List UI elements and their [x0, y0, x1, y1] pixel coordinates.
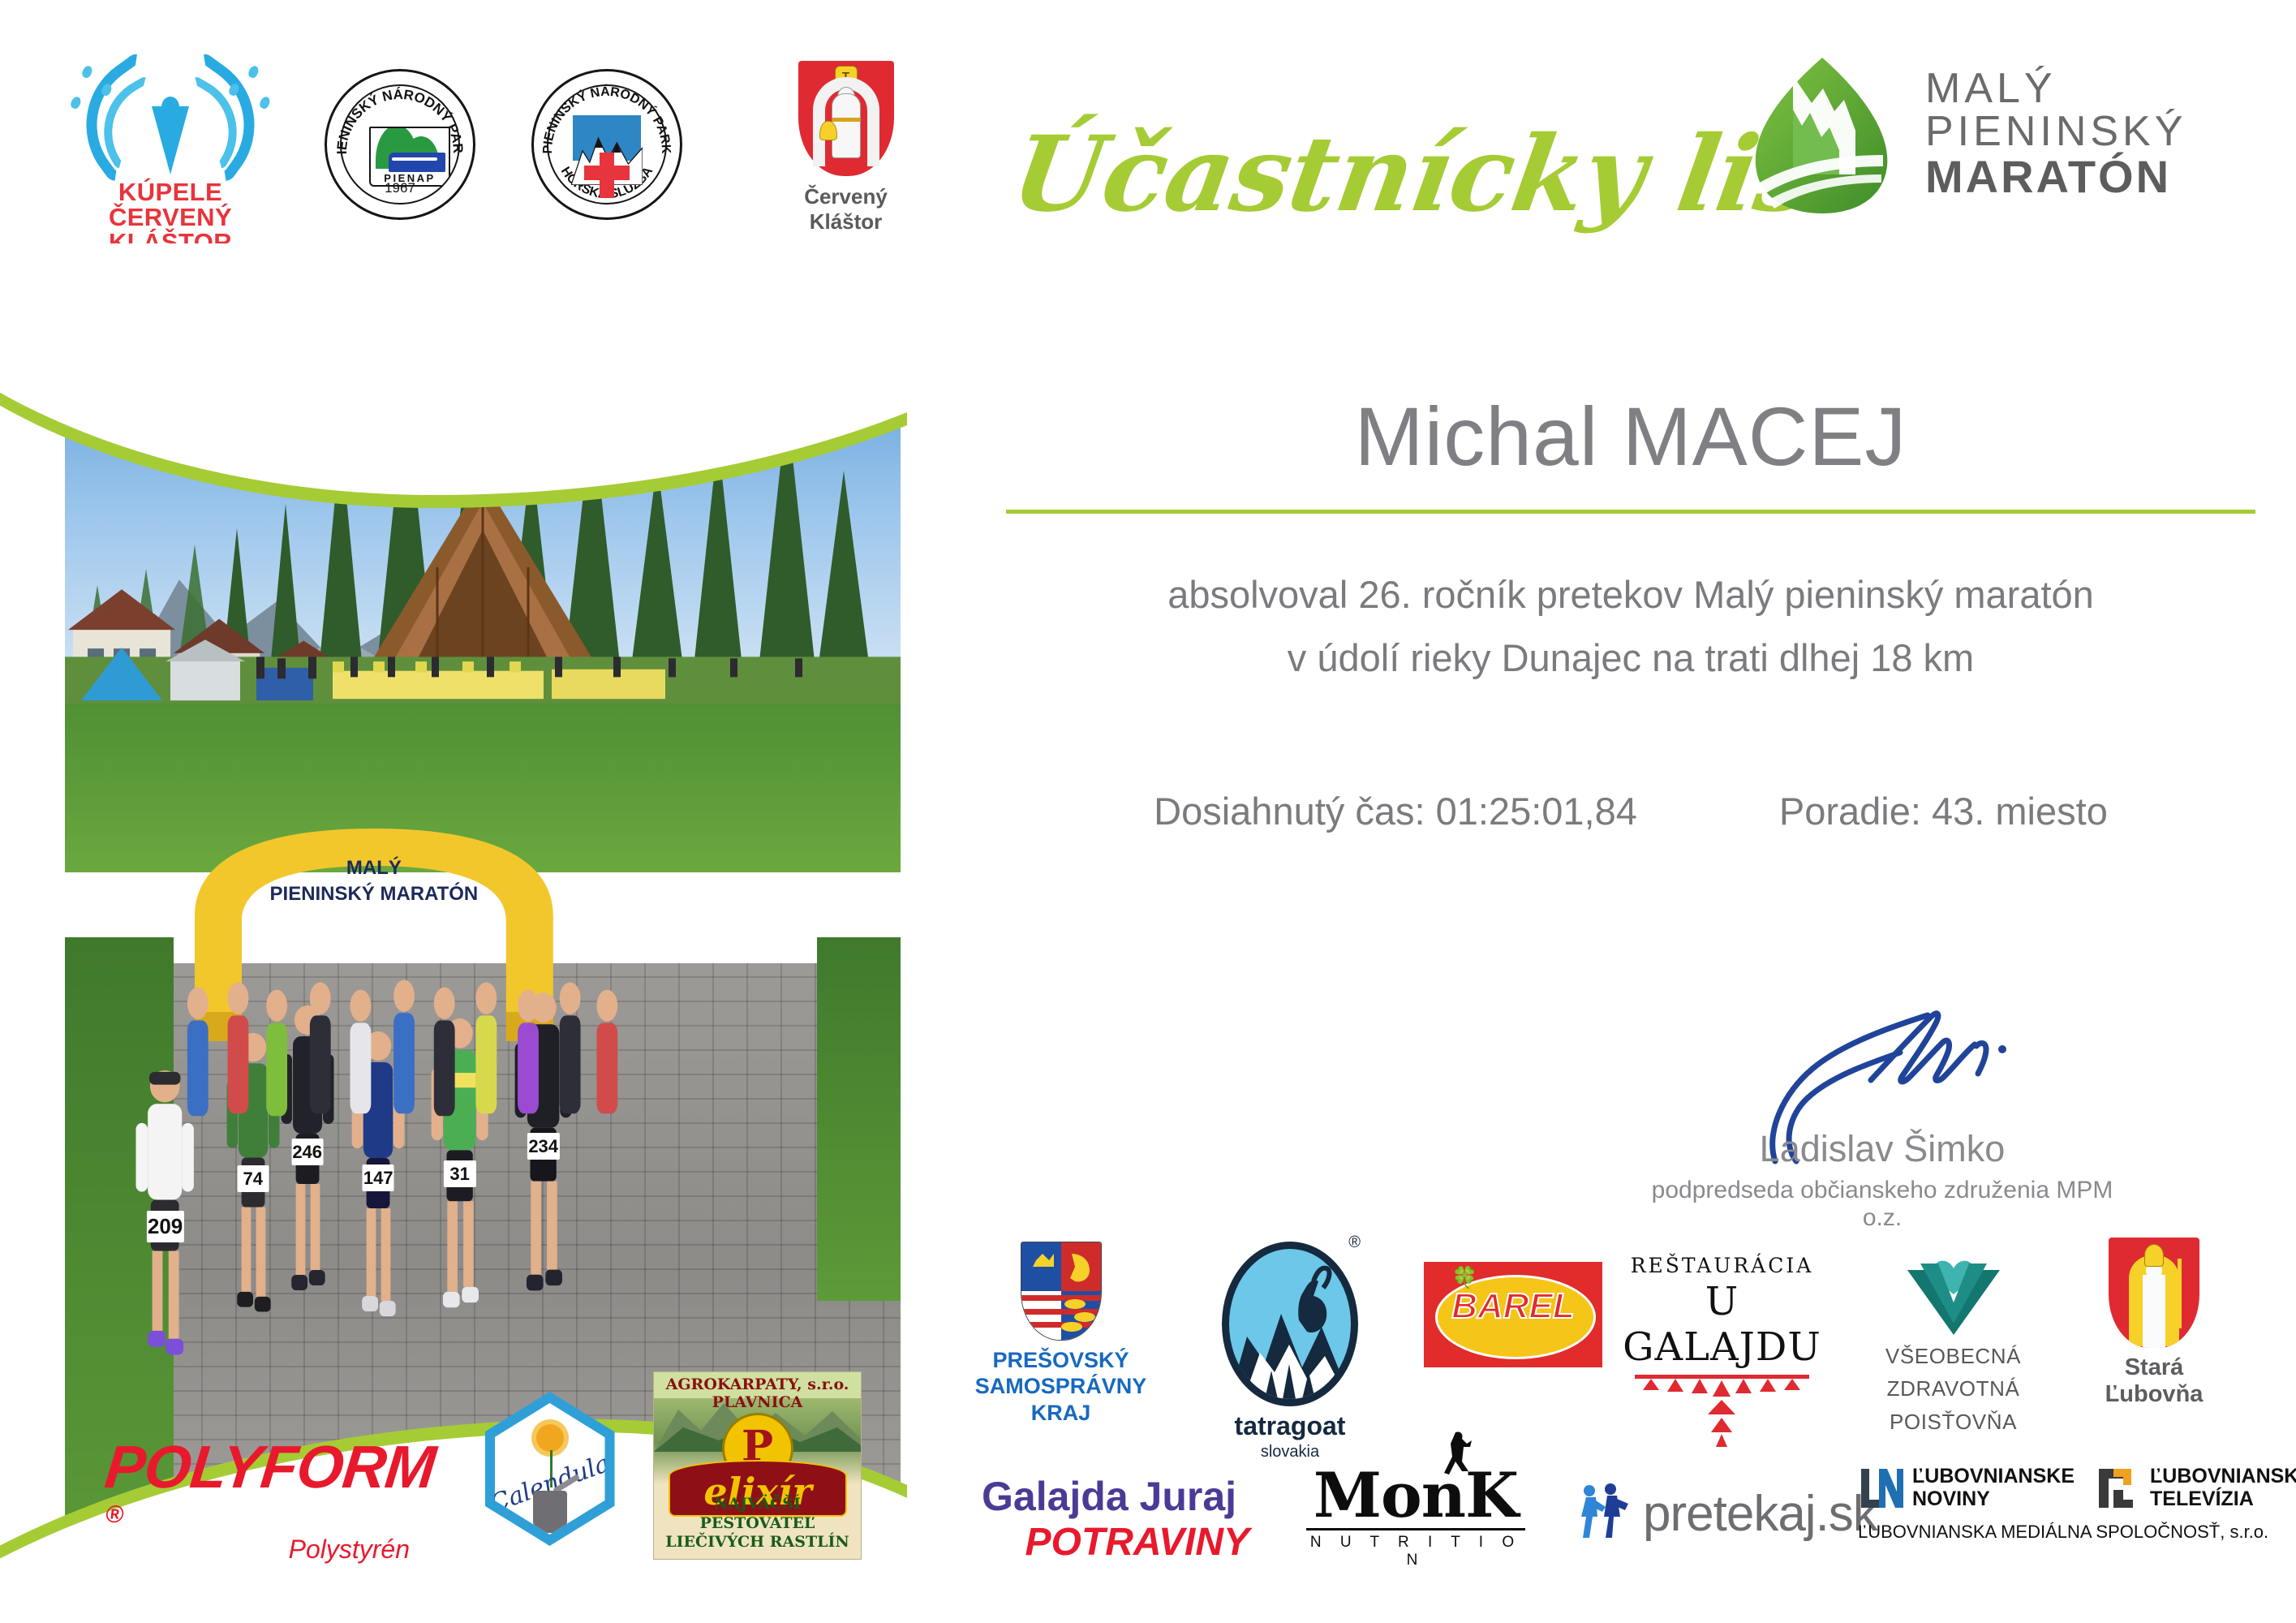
logo-presovsky-samospravny-kraj: PREŠOVSKÝ SAMOSPRÁVNY KRAJ [974, 1242, 1148, 1426]
coat-of-arms-icon [1021, 1242, 1102, 1341]
runner-bib: 209 [147, 1211, 184, 1242]
flower-icon [536, 1424, 564, 1452]
media-line-1: ĽUBOVNIANSKE [1912, 1465, 2075, 1487]
bell-icon [819, 121, 837, 140]
monk-figure-icon [1443, 1429, 1475, 1479]
logo-caption: Červený Kláštor [775, 184, 917, 235]
logo-calendula: Calendula [479, 1392, 621, 1554]
signatory-name: Ladislav Šimko [1655, 1128, 2109, 1170]
logo-kupele-cerveny-klastor: KÚPELE ČERVENÝ KLÁŠTOR Smerdžonka [65, 61, 276, 231]
sponsor-caption: tatragoat [1193, 1411, 1387, 1441]
clover-icon: 🍀 [1451, 1267, 1473, 1288]
signatory-role: podpredseda občianskeho združenia MPM o.… [1639, 1177, 2126, 1232]
barel-word: BAREL [1424, 1286, 1602, 1327]
logo-pretekaj-sk: pretekaj.sk [1578, 1481, 1854, 1546]
galajda-line-2: POTRAVINY [982, 1520, 1249, 1565]
coat-of-arms-icon: T [798, 61, 894, 176]
goat-mountain-icon [1222, 1242, 1358, 1406]
logo-lubovnianska-medialna-spolocnost: ĽUBOVNIANSKE NOVINY ĽUBOVNIANSKA TELEVÍZ… [1858, 1465, 2264, 1543]
logo-maly-pieninsky-maraton: MALÝ PIENINSKÝ MARATÓN [1748, 49, 2251, 219]
divider [1006, 510, 2255, 514]
folk-ornament-icon [1635, 1379, 1809, 1449]
logo-monk-nutrition: MonK N U T R I T I O N [1298, 1465, 1533, 1569]
logo-polyform: POLYFORM® Polystyrén [105, 1432, 446, 1565]
page-title: Účastnícky list [1004, 114, 1871, 235]
svg-text:MALÝ: MALÝ [346, 856, 402, 879]
photo-frame-right-mask [907, 243, 965, 1623]
logo-tatragoat: ® tatragoat slovakia [1193, 1242, 1387, 1462]
sponsor-caption: Stará Ľubovňa [2073, 1354, 2235, 1408]
sponsor-caption: PREŠOVSKÝ SAMOSPRÁVNY KRAJ [974, 1347, 1148, 1426]
runners-icon [1578, 1481, 1632, 1546]
registered-icon: ® [104, 1501, 124, 1529]
logo-stara-lubovna: Stará Ľubovňa [2073, 1238, 2235, 1408]
brand-line-1: MALÝ [1925, 67, 2186, 110]
sponsor-caption: VŠEOBECNÁ ZDRAVOTNÁ POISŤOVŇA [1874, 1340, 2032, 1438]
certificate-page: KÚPELE ČERVENÝ KLÁŠTOR Smerdžonka PIENIN… [0, 0, 2296, 1623]
media-line-4: TELEVÍZIA [2150, 1487, 2296, 1510]
lubovnianske-noviny-logo: ĽUBOVNIANSKE NOVINY [1858, 1465, 2075, 1510]
lt-monogram-icon [2096, 1466, 2143, 1509]
coat-of-arms-icon [2109, 1238, 2199, 1348]
elixir-bottom-line-1: NAJVÄČŠÍ PESTOVATEĽ [654, 1495, 861, 1534]
monk-subtitle: N U T R I T I O N [1298, 1534, 1533, 1569]
signature-block: Ladislav Šimko podpredseda občianskeho z… [1655, 1002, 2109, 1197]
elixir-bottom-line-2: LIEČIVÝCH RASTLÍN [654, 1533, 861, 1552]
restaurant-label: REŠTAURÁCIA [1619, 1254, 1825, 1277]
polyform-word: POLYFORM [102, 1432, 439, 1501]
spa-fountain-icon [65, 61, 276, 174]
registered-icon: ® [1348, 1233, 1361, 1252]
rank-position: Poradie: 43. miesto [1779, 789, 2108, 833]
certificate-body-line-1: absolvoval 26. ročník pretekov Malý pien… [1006, 572, 2255, 617]
logo-agrokarpaty-elixir: AGROKARPATY, s.r.o. PLAVNICA P elixír NA… [653, 1371, 862, 1560]
finish-time: Dosiahnutý čas: 01:25:01,84 [1154, 789, 1637, 833]
runner-pack [174, 976, 625, 1197]
polyform-subtitle: Polystyrén [105, 1535, 410, 1565]
monk-word: MonK [1298, 1465, 1533, 1526]
logo-restauracia-u-galajdu: REŠTAURÁCIA U GALAJDU [1619, 1254, 1825, 1449]
pienap-emblem-icon: PIENAP [369, 127, 450, 187]
crowd-and-tents [65, 626, 901, 704]
vzp-chevron-icon [1901, 1246, 2006, 1335]
logo-horska-sluzba: PIENINSKÝ NÁRODNÝ PARK HORSKÁ SLUŽBA [531, 69, 682, 220]
pretekaj-word: pretekaj.sk [1643, 1485, 1877, 1543]
partner-logo-strip: KÚPELE ČERVENÝ KLÁŠTOR Smerdžonka PIENIN… [0, 0, 957, 243]
brand-line-2: PIENINSKÝ [1925, 110, 2186, 153]
logo-galajda-juraj-potraviny: Galajda Juraj POTRAVINY [982, 1473, 1249, 1565]
galajda-line-1: Galajda Juraj [982, 1473, 1249, 1520]
ln-monogram-icon [1858, 1466, 1905, 1509]
logo-barel: 🍀 BAREL [1412, 1262, 1615, 1367]
logo-cerveny-klastor: T Červený Kláštor [775, 61, 917, 231]
logo-vseobecna-zdravotna-poistovna: VŠEOBECNÁ ZDRAVOTNÁ POISŤOVŇA [1874, 1246, 2032, 1438]
lubovnianska-televizia-logo: ĽUBOVNIANSKA TELEVÍZIA [2096, 1465, 2296, 1510]
media-company-footer: ĽUBOVNIANSKA MEDIÁLNA SPOLOČNOSŤ, s.r.o. [1858, 1522, 2264, 1543]
pienap-year: 1967 [342, 180, 458, 196]
restaurant-name: U GALAJDU [1619, 1279, 1825, 1370]
media-line-2: NOVINY [1912, 1487, 2075, 1510]
media-line-3: ĽUBOVNIANSKA [2150, 1465, 2296, 1487]
mountain-leaf-icon [1748, 53, 1896, 215]
mortar-icon [533, 1491, 567, 1533]
svg-text:PIENINSKÝ MARATÓN: PIENINSKÝ MARATÓN [270, 882, 479, 905]
brand-line-3: MARATÓN [1925, 153, 2186, 200]
result-row: Dosiahnutý čas: 01:25:01,84 Poradie: 43.… [1006, 789, 2255, 833]
logo-pienap: PIENINSKÝ NÁRODNÝ PARK PIENAP 1967 [325, 69, 475, 220]
participant-name: Michal MACEJ [1006, 390, 2255, 484]
certificate-body-line-2: v údolí rieky Dunajec na trati dlhej 18 … [1006, 635, 2255, 680]
